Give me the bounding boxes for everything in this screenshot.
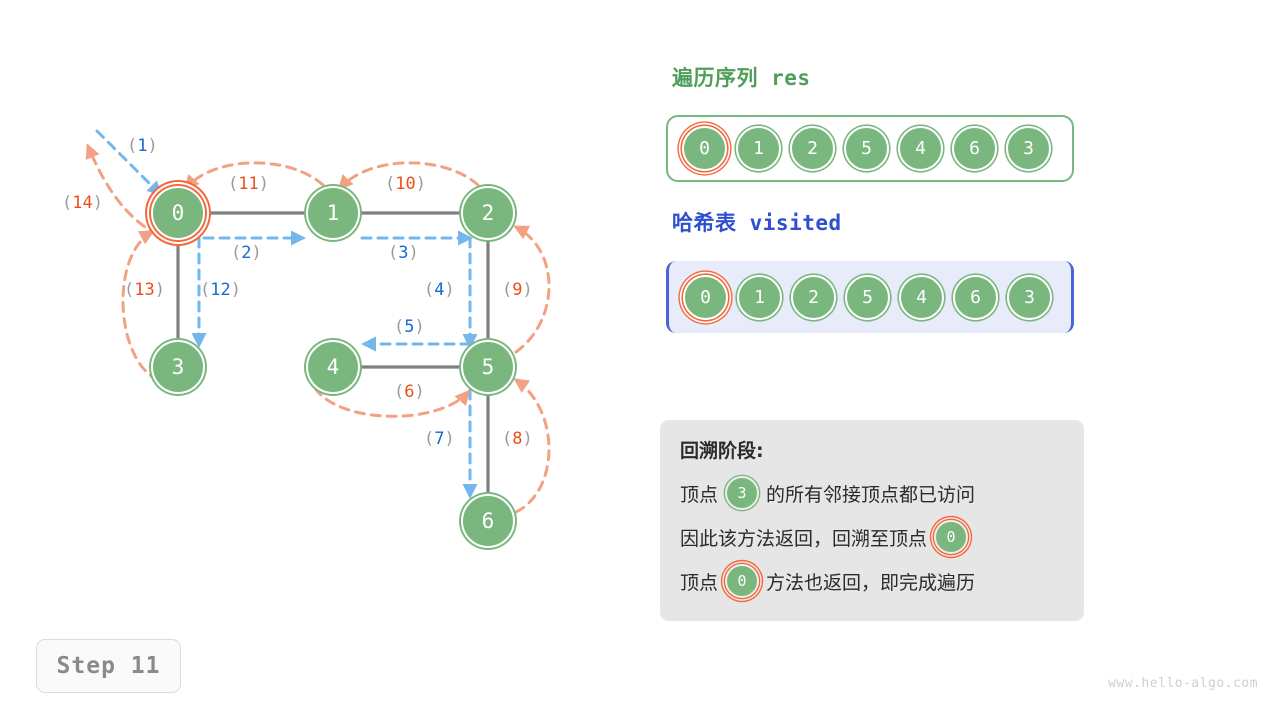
step-label-1: (1) [127, 136, 158, 156]
explanation-line-1: 顶点3的所有邻接顶点都已访问 [680, 471, 1064, 515]
explanation-title: 回溯阶段: [680, 436, 1064, 463]
res-panel-title: 遍历序列 res [672, 62, 811, 92]
step-label-11: (11) [228, 174, 269, 194]
res-chip-3: 5 [844, 126, 889, 171]
step-label-4: (4) [424, 280, 455, 300]
explanation-line-1-post: 的所有邻接顶点都已访问 [766, 480, 975, 507]
explanation-line-1-pre: 顶点 [680, 480, 718, 507]
explanation-line-1-chip: 3 [725, 476, 759, 510]
explanation-line-3: 顶点0方法也返回，即完成遍历 [680, 559, 1064, 603]
step-label-14: (14) [62, 193, 103, 213]
graph-diagram: 0123456 (1)(2)(3)(4)(5)(6)(7)(8)(9)(10)(… [0, 0, 640, 720]
step-label-7: (7) [424, 429, 455, 449]
step-badge: Step 11 [36, 639, 181, 693]
res-chip-6: 3 [1006, 126, 1051, 171]
visited-chip-5: 6 [953, 275, 998, 320]
res-sequence-box: 0125463 [666, 115, 1074, 182]
res-chip-1: 1 [736, 126, 781, 171]
step-label-6: (6) [394, 382, 425, 402]
step-label-13: (13) [124, 280, 165, 300]
visited-chip-1: 1 [737, 275, 782, 320]
graph-node-3: 3 [151, 340, 205, 394]
right-panel: 遍历序列 res 0125463 哈希表 visited 0125463 回溯阶… [660, 0, 1280, 720]
explanation-line-2-pre: 因此该方法返回，回溯至顶点 [680, 524, 927, 551]
explanation-line-2: 因此该方法返回，回溯至顶点0 [680, 515, 1064, 559]
visited-chip-2: 2 [791, 275, 836, 320]
backtrack-arrow-14 [88, 146, 158, 235]
explanation-line-3-post: 方法也返回，即完成遍历 [766, 568, 975, 595]
visited-hashtable-box: 0125463 [666, 261, 1074, 333]
visited-chip-4: 4 [899, 275, 944, 320]
step-label-5: (5) [394, 317, 425, 337]
graph-node-6: 6 [461, 494, 515, 548]
graph-node-4: 4 [306, 340, 360, 394]
watermark: www.hello-algo.com [1108, 676, 1258, 691]
step-label-3: (3) [388, 243, 419, 263]
graph-node-1: 1 [306, 186, 360, 240]
step-label-2: (2) [231, 243, 262, 263]
visited-panel-title: 哈希表 visited [672, 207, 842, 237]
explanation-line-3-chip: 0 [725, 564, 759, 598]
step-label-12: (12) [200, 280, 241, 300]
explanation-lines: 顶点3的所有邻接顶点都已访问因此该方法返回，回溯至顶点0顶点0方法也返回，即完成… [680, 471, 1064, 603]
explanation-box: 回溯阶段: 顶点3的所有邻接顶点都已访问因此该方法返回，回溯至顶点0顶点0方法也… [660, 420, 1084, 621]
res-chip-5: 6 [952, 126, 997, 171]
step-label-10: (10) [385, 174, 426, 194]
visited-chip-0: 0 [683, 275, 728, 320]
res-chip-2: 2 [790, 126, 835, 171]
res-chip-4: 4 [898, 126, 943, 171]
graph-node-2: 2 [461, 186, 515, 240]
res-chip-0: 0 [682, 126, 727, 171]
graph-node-0: 0 [151, 186, 205, 240]
visited-chip-3: 5 [845, 275, 890, 320]
step-label-9: (9) [502, 280, 533, 300]
graph-node-5: 5 [461, 340, 515, 394]
slide-root: 0123456 (1)(2)(3)(4)(5)(6)(7)(8)(9)(10)(… [0, 0, 1280, 720]
visited-chip-6: 3 [1007, 275, 1052, 320]
explanation-line-3-pre: 顶点 [680, 568, 718, 595]
explanation-line-2-chip: 0 [934, 520, 968, 554]
step-label-8: (8) [502, 429, 533, 449]
